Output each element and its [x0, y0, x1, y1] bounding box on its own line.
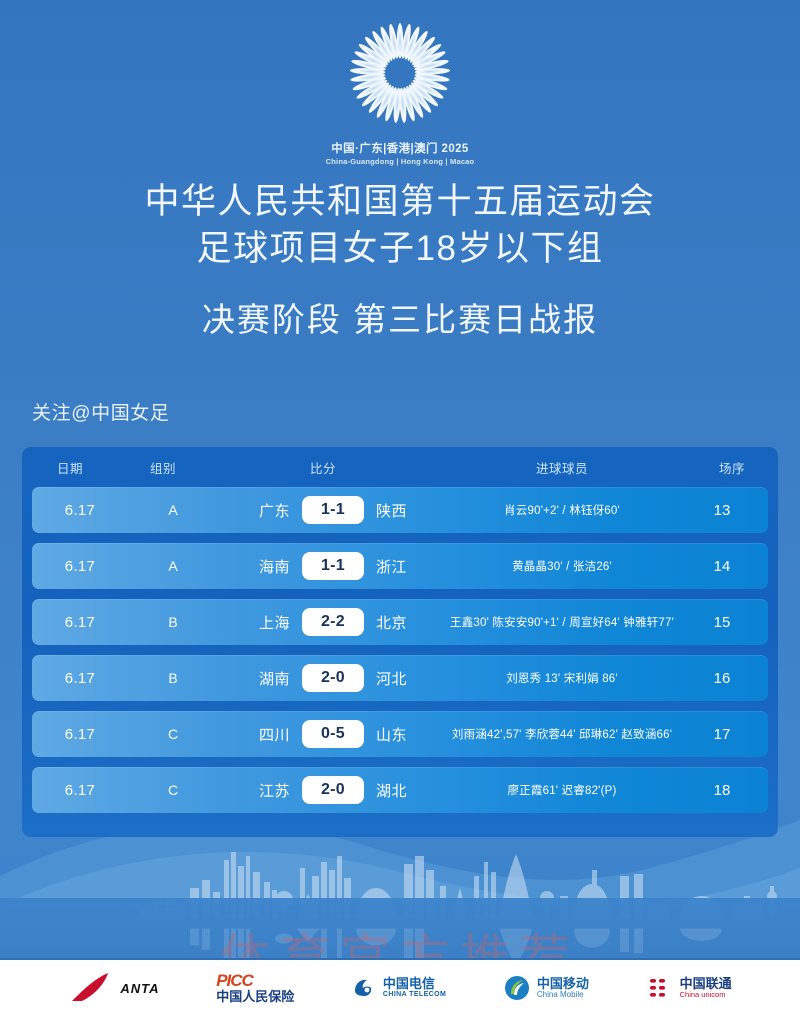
- sponsor-telecom-label: 中国电信: [383, 977, 446, 991]
- poster-root: 中国·广东|香港|澳门 2025 China-Guangdong | Hong …: [0, 0, 800, 1016]
- cell-date: 6.17: [32, 558, 128, 575]
- cell-group: A: [128, 502, 218, 518]
- sponsor-anta-label: ANTA: [120, 981, 159, 996]
- sponsor-china-mobile: 中国移动 China Mobile: [503, 974, 589, 1002]
- cell-scorers: 廖正霞61' 迟睿82'(P): [448, 782, 676, 798]
- sponsor-picc-label: 中国人民保险: [216, 990, 294, 1004]
- cell-order: 18: [676, 782, 768, 799]
- home-team: 湖南: [240, 668, 290, 689]
- away-team: 浙江: [376, 556, 426, 577]
- cell-date: 6.17: [32, 614, 128, 631]
- away-team: 湖北: [376, 780, 426, 801]
- cell-group: B: [128, 670, 218, 686]
- picc-logo-icon: PICC: [216, 972, 294, 990]
- cell-score: 江苏 2-0 湖北: [218, 776, 448, 804]
- water-band: [0, 898, 800, 960]
- sponsor-china-telecom: 中国电信 CHINA TELECOM: [351, 975, 446, 1001]
- title-line-1: 中华人民共和国第十五届运动会: [0, 178, 800, 225]
- table-row[interactable]: 6.17 B 上海 2-2 北京 王鑫30' 陈安安90'+1' / 周宣好64…: [32, 599, 768, 645]
- away-team: 北京: [376, 612, 426, 633]
- china-mobile-logo-icon: [503, 974, 531, 1002]
- table-header-row: 日期 组别 比分 进球球员 场序: [22, 447, 778, 487]
- home-team: 四川: [240, 724, 290, 745]
- emblem-title-cn: 中国·广东|香港|澳门 2025: [331, 140, 468, 156]
- cell-group: C: [128, 726, 218, 742]
- score-badge: 2-2: [302, 608, 364, 636]
- anta-logo-icon: [68, 971, 114, 1005]
- cell-order: 16: [676, 670, 768, 687]
- cell-score: 四川 0-5 山东: [218, 720, 448, 748]
- table-row[interactable]: 6.17 B 湖南 2-0 河北 刘恩秀 13' 宋利娟 86' 16: [32, 655, 768, 701]
- home-team: 上海: [240, 612, 290, 633]
- cell-scorers: 黄晶晶30' / 张洁26': [448, 558, 676, 574]
- cell-order: 14: [676, 558, 768, 575]
- emblem-flower-icon: [341, 22, 459, 134]
- sponsor-unicom-sublabel: China unicom: [680, 991, 732, 999]
- cell-scorers: 肖云90'+2' / 林钰伢60': [448, 502, 676, 518]
- table-row[interactable]: 6.17 C 江苏 2-0 湖北 廖正霞61' 迟睿82'(P) 18: [32, 767, 768, 813]
- china-unicom-logo-icon: [646, 975, 674, 1001]
- away-team: 陕西: [376, 500, 426, 521]
- header-order: 场序: [686, 458, 778, 477]
- header-score: 比分: [208, 458, 438, 477]
- cell-order: 13: [676, 502, 768, 519]
- table-row[interactable]: 6.17 C 四川 0-5 山东 刘雨涵42',57' 李欣蓉44' 邱琳62'…: [32, 711, 768, 757]
- sponsor-mobile-label: 中国移动: [537, 977, 589, 991]
- home-team: 广东: [240, 500, 290, 521]
- sponsor-china-unicom: 中国联通 China unicom: [646, 975, 732, 1001]
- cell-group: C: [128, 782, 218, 798]
- header-date: 日期: [22, 458, 118, 477]
- cell-scorers: 刘雨涵42',57' 李欣蓉44' 邱琳62' 赵致涵66': [448, 726, 676, 742]
- sponsor-bar: ANTA PICC 中国人民保险 中国电信 CHINA TELECOM: [0, 958, 800, 1016]
- sponsor-telecom-sublabel: CHINA TELECOM: [383, 991, 446, 999]
- games-emblem: 中国·广东|香港|澳门 2025 China-Guangdong | Hong …: [0, 22, 800, 166]
- home-team: 海南: [240, 556, 290, 577]
- cell-date: 6.17: [32, 782, 128, 799]
- table-row[interactable]: 6.17 A 广东 1-1 陕西 肖云90'+2' / 林钰伢60' 13: [32, 487, 768, 533]
- cell-order: 15: [676, 614, 768, 631]
- cell-scorers: 刘恩秀 13' 宋利娟 86': [448, 670, 676, 686]
- score-badge: 2-0: [302, 664, 364, 692]
- cell-order: 17: [676, 726, 768, 743]
- away-team: 山东: [376, 724, 426, 745]
- cell-scorers: 王鑫30' 陈安安90'+1' / 周宣好64' 钟雅轩77': [448, 614, 676, 630]
- sponsor-unicom-label: 中国联通: [680, 977, 732, 991]
- score-badge: 0-5: [302, 720, 364, 748]
- header-scorers: 进球球员: [438, 458, 686, 477]
- sponsor-anta: ANTA: [68, 971, 159, 1005]
- cell-score: 湖南 2-0 河北: [218, 664, 448, 692]
- results-panel: 日期 组别 比分 进球球员 场序 6.17 A 广东 1-1 陕西 肖云90'+…: [22, 447, 778, 837]
- sponsor-mobile-sublabel: China Mobile: [537, 991, 589, 1000]
- score-badge: 1-1: [302, 496, 364, 524]
- header-group: 组别: [118, 458, 208, 477]
- emblem-title-en: China-Guangdong | Hong Kong | Macao: [326, 157, 475, 166]
- score-badge: 1-1: [302, 552, 364, 580]
- title-line-2: 足球项目女子18岁以下组: [0, 225, 800, 272]
- title-line-3: 决赛阶段 第三比赛日战报: [0, 298, 800, 342]
- cell-score: 上海 2-2 北京: [218, 608, 448, 636]
- title-block: 中华人民共和国第十五届运动会 足球项目女子18岁以下组 决赛阶段 第三比赛日战报: [0, 178, 800, 342]
- china-telecom-logo-icon: [351, 975, 377, 1001]
- cell-date: 6.17: [32, 670, 128, 687]
- away-team: 河北: [376, 668, 426, 689]
- home-team: 江苏: [240, 780, 290, 801]
- cell-score: 广东 1-1 陕西: [218, 496, 448, 524]
- score-badge: 2-0: [302, 776, 364, 804]
- cell-date: 6.17: [32, 726, 128, 743]
- cell-group: B: [128, 614, 218, 630]
- cell-group: A: [128, 558, 218, 574]
- follow-handle: 关注@中国女足: [32, 398, 170, 425]
- cell-score: 海南 1-1 浙江: [218, 552, 448, 580]
- sponsor-picc: PICC 中国人民保险: [216, 972, 294, 1004]
- cell-date: 6.17: [32, 502, 128, 519]
- table-row[interactable]: 6.17 A 海南 1-1 浙江 黄晶晶30' / 张洁26' 14: [32, 543, 768, 589]
